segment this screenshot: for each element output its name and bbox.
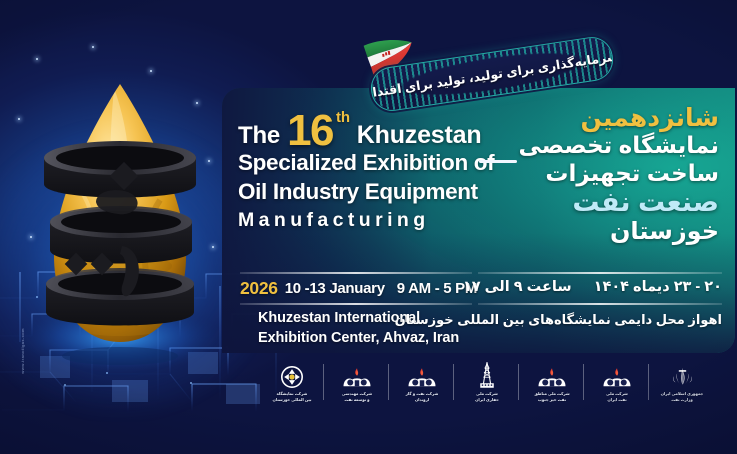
poster-vignette (0, 0, 737, 454)
exhibition-poster: www.iranoilgas.com سرمایه‌گذاری برای تول… (0, 0, 737, 454)
